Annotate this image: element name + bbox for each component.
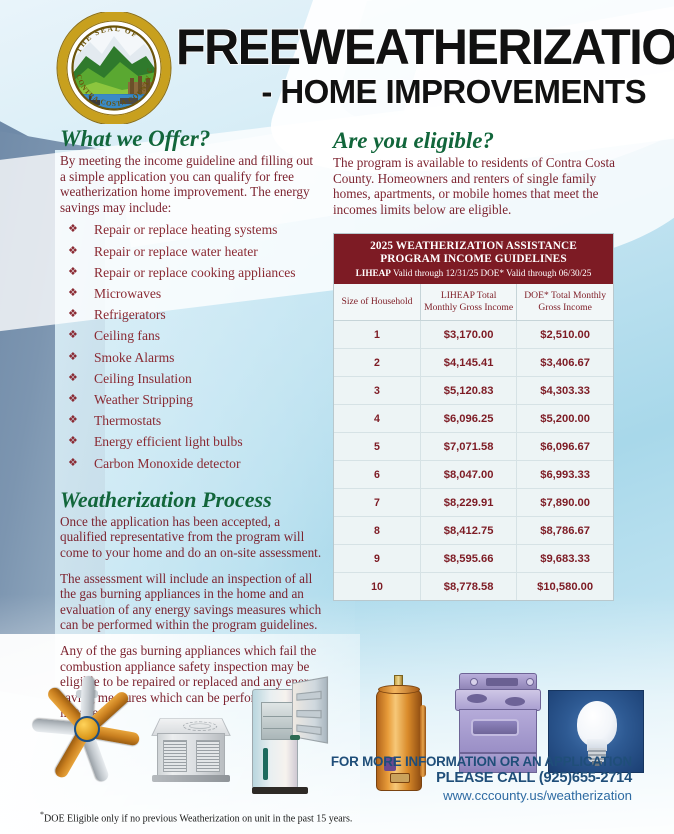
table-row: 1$3,170.00$2,510.00 (334, 321, 613, 349)
list-item: ❖Carbon Monoxide detector (60, 453, 322, 474)
cell-doe: $10,580.00 (517, 573, 613, 601)
table: Size of Household LIHEAP Total Monthly G… (334, 284, 613, 600)
list-item: ❖Refrigerators (60, 304, 322, 325)
diamond-bullet-icon: ❖ (68, 453, 78, 474)
fridge-door-shelf (296, 724, 321, 735)
list-item-label: Repair or replace water heater (94, 244, 258, 259)
validity-text: Valid through 12/31/25 DOE* Valid throug… (393, 268, 591, 278)
cell-doe: $6,993.33 (517, 461, 613, 489)
fridge-shelf (263, 716, 293, 717)
table-row: 6$8,047.00$6,993.33 (334, 461, 613, 489)
diamond-bullet-icon: ❖ (68, 325, 78, 346)
list-item-label: Energy efficient light bulbs (94, 434, 243, 449)
table-row: 10$8,778.58$10,580.00 (334, 573, 613, 601)
fridge-door-shelf (296, 691, 321, 701)
cell-size: 2 (334, 349, 420, 377)
table-row: 4$6,096.25$5,200.00 (334, 405, 613, 433)
process-paragraph-2: The assessment will include an inspectio… (60, 571, 322, 633)
table-row: 9$8,595.66$9,683.33 (334, 545, 613, 573)
table-row: 3$5,120.83$4,303.33 (334, 377, 613, 405)
ac-fan-ring-inner (189, 723, 212, 728)
cell-doe: $5,200.00 (517, 405, 613, 433)
table-title-line-3: LIHEAP Valid through 12/31/25 DOE* Valid… (338, 267, 609, 279)
page-title: FREEWEATHERIZATION - HOME IMPROVEMENTS (176, 22, 646, 110)
left-column: What we Offer? By meeting the income gui… (60, 126, 322, 731)
list-item: ❖Smoke Alarms (60, 347, 322, 368)
table-row: 5$7,071.58$6,096.67 (334, 433, 613, 461)
list-item-label: Weather Stripping (94, 392, 193, 407)
column-header-doe: DOE* Total Monthly Gross Income (517, 284, 613, 321)
list-item: ❖Repair or replace water heater (60, 241, 322, 262)
table-header-row: Size of Household LIHEAP Total Monthly G… (334, 284, 613, 321)
cell-liheap: $4,145.41 (420, 349, 516, 377)
cell-liheap: $3,170.00 (420, 321, 516, 349)
stove-display (486, 678, 518, 686)
liheap-label: LIHEAP (356, 268, 391, 278)
footnote-text: DOE Eligible only if no previous Weather… (44, 813, 352, 824)
cell-size: 7 (334, 489, 420, 517)
stove-burner (505, 697, 525, 706)
contact-line-1: FOR MORE INFORMATION OR AN APPLICATION (331, 754, 632, 770)
cell-size: 4 (334, 405, 420, 433)
table-title-bar: 2025 WEATHERIZATION ASSISTANCE PROGRAM I… (334, 234, 613, 284)
cell-size: 3 (334, 377, 420, 405)
list-item-label: Refrigerators (94, 307, 166, 322)
list-item-label: Microwaves (94, 286, 161, 301)
title-subtitle: - HOME IMPROVEMENTS (176, 74, 646, 110)
list-item: ❖Ceiling Insulation (60, 368, 322, 389)
ac-body (157, 733, 225, 777)
table-row: 8$8,412.75$8,786.67 (334, 517, 613, 545)
diamond-bullet-icon: ❖ (68, 431, 78, 452)
cell-liheap: $5,120.83 (420, 377, 516, 405)
ceiling-fan-icon (30, 690, 150, 770)
table-title-line-1: 2025 WEATHERIZATION ASSISTANCE (338, 240, 609, 253)
air-conditioner-icon (148, 713, 236, 785)
fridge-door-shelf (296, 710, 321, 718)
eligible-paragraph: The program is available to residents of… (333, 155, 623, 217)
diamond-bullet-icon: ❖ (68, 368, 78, 389)
contact-website[interactable]: www.cccounty.us/weatherization (331, 787, 632, 804)
fridge-hinge (290, 735, 300, 740)
flyer-page: THE SEAL OF CONTRA COSTA COUNTY CALIFORN… (0, 0, 674, 834)
stove-burner (467, 694, 487, 703)
cell-size: 1 (334, 321, 420, 349)
cell-liheap: $8,595.66 (420, 545, 516, 573)
stove-knob (470, 678, 478, 686)
refrigerator-icon (252, 683, 328, 798)
diamond-bullet-icon: ❖ (68, 262, 78, 283)
diamond-bullet-icon: ❖ (68, 410, 78, 431)
list-item: ❖Energy efficient light bulbs (60, 431, 322, 452)
fridge-base (252, 787, 308, 794)
cell-size: 10 (334, 573, 420, 601)
fridge-interior (261, 702, 295, 740)
cell-doe: $9,683.33 (517, 545, 613, 573)
list-item-label: Ceiling fans (94, 328, 160, 343)
list-item-label: Ceiling Insulation (94, 371, 192, 386)
footnote: *DOE Eligible only if no previous Weathe… (40, 810, 352, 824)
table-row: 7$8,229.91$7,890.00 (334, 489, 613, 517)
stove-knob (526, 678, 534, 686)
list-item: ❖Microwaves (60, 283, 322, 304)
list-item-label: Repair or replace cooking appliances (94, 265, 296, 280)
list-item-label: Carbon Monoxide detector (94, 456, 240, 471)
process-heading: Weatherization Process (60, 487, 322, 513)
ac-grille (196, 740, 220, 772)
cell-liheap: $6,096.25 (420, 405, 516, 433)
column-header-size: Size of Household (334, 284, 420, 321)
offer-paragraph: By meeting the income guideline and fill… (60, 153, 322, 215)
list-item-label: Smoke Alarms (94, 350, 174, 365)
diamond-bullet-icon: ❖ (68, 241, 78, 262)
fridge-door (292, 676, 328, 744)
cell-liheap: $8,778.58 (420, 573, 516, 601)
offer-list: ❖Repair or replace heating systems ❖Repa… (60, 219, 322, 473)
cell-size: 8 (334, 517, 420, 545)
list-item: ❖Thermostats (60, 410, 322, 431)
title-main: FREEWEATHERIZATION (176, 22, 632, 72)
table-title-line-2: PROGRAM INCOME GUIDELINES (338, 253, 609, 266)
cell-size: 9 (334, 545, 420, 573)
right-column: Are you eligible? The program is availab… (333, 128, 623, 601)
diamond-bullet-icon: ❖ (68, 347, 78, 368)
cell-liheap: $8,047.00 (420, 461, 516, 489)
cell-doe: $7,890.00 (517, 489, 613, 517)
offer-heading: What we Offer? (60, 126, 322, 152)
diamond-bullet-icon: ❖ (68, 283, 78, 304)
diamond-bullet-icon: ❖ (68, 304, 78, 325)
cell-doe: $6,096.67 (517, 433, 613, 461)
cell-doe: $3,406.67 (517, 349, 613, 377)
list-item: ❖Ceiling fans (60, 325, 322, 346)
ac-grille (163, 740, 187, 772)
list-item-label: Thermostats (94, 413, 161, 428)
cell-doe: $8,786.67 (517, 517, 613, 545)
list-item: ❖Repair or replace cooking appliances (60, 262, 322, 283)
cell-liheap: $7,071.58 (420, 433, 516, 461)
table-row: 2$4,145.41$3,406.67 (334, 349, 613, 377)
cell-liheap: $8,412.75 (420, 517, 516, 545)
fridge-shelf (263, 728, 293, 729)
fan-hub (74, 716, 100, 742)
column-header-liheap: LIHEAP Total Monthly Gross Income (420, 284, 516, 321)
list-item: ❖Weather Stripping (60, 389, 322, 410)
contact-block: FOR MORE INFORMATION OR AN APPLICATION P… (331, 754, 632, 804)
eligible-heading: Are you eligible? (333, 128, 623, 154)
list-item-label: Repair or replace heating systems (94, 222, 277, 237)
county-seal-icon: THE SEAL OF CONTRA COSTA COUNTY CALIFORN… (56, 12, 172, 124)
cell-liheap: $8,229.91 (420, 489, 516, 517)
diamond-bullet-icon: ❖ (68, 219, 78, 240)
diamond-bullet-icon: ❖ (68, 389, 78, 410)
heater-lid (378, 685, 420, 694)
cell-size: 5 (334, 433, 420, 461)
cell-size: 6 (334, 461, 420, 489)
ac-base (152, 775, 230, 782)
stove-oven-window (471, 719, 519, 736)
list-item: ❖Repair or replace heating systems (60, 219, 322, 240)
process-paragraph-1: Once the application has been accepted, … (60, 514, 322, 561)
fridge-handle (263, 748, 268, 780)
cell-doe: $2,510.00 (517, 321, 613, 349)
contact-phone[interactable]: PLEASE CALL (925)655-2714 (331, 770, 632, 787)
income-guidelines-table: 2025 WEATHERIZATION ASSISTANCE PROGRAM I… (333, 233, 614, 601)
cell-doe: $4,303.33 (517, 377, 613, 405)
